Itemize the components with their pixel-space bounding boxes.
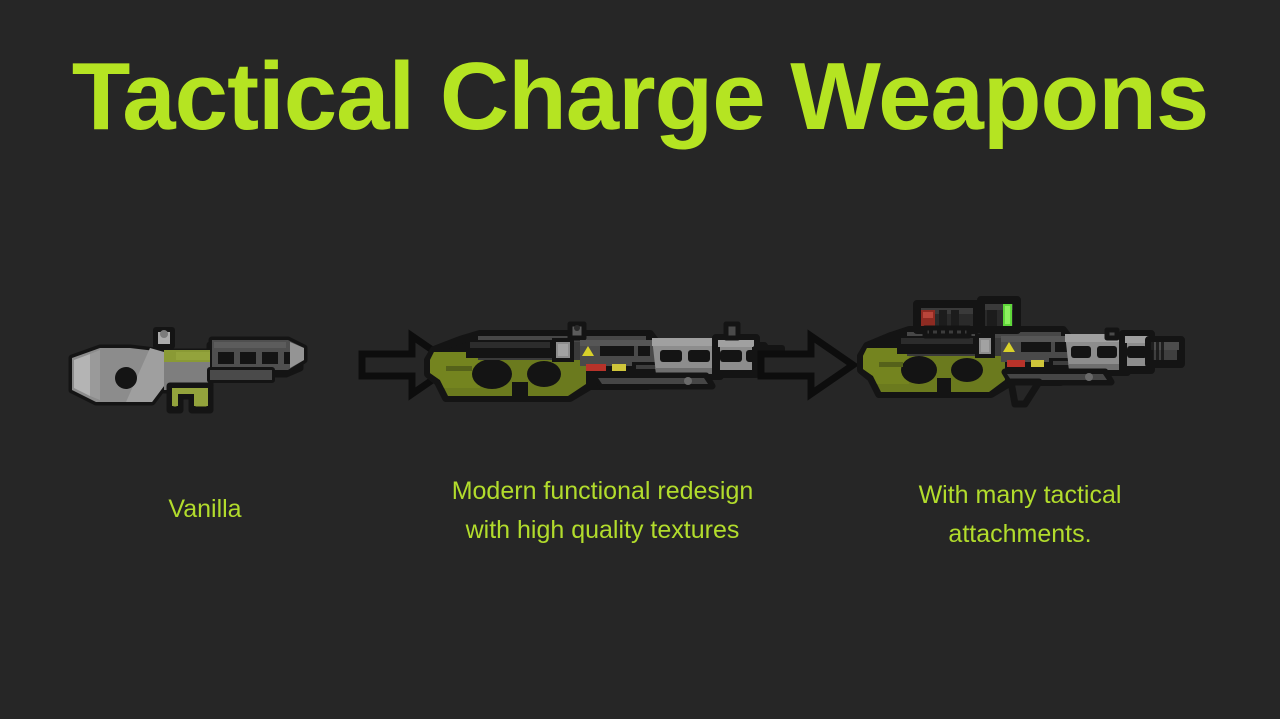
slide-canvas: Tactical Charge Weapons — [0, 0, 1280, 719]
redesign-art — [420, 290, 785, 420]
tactical-art — [855, 290, 1185, 420]
transition-arrow-2 — [757, 332, 857, 398]
caption-vanilla: Vanilla — [60, 490, 350, 529]
tactical-charge-rifle-sprite — [855, 290, 1185, 420]
redesigned-charge-rifle-sprite — [420, 290, 785, 420]
right-arrow-icon — [757, 332, 857, 398]
item-redesign: Modern functional redesign with high qua… — [420, 290, 785, 550]
page-title: Tactical Charge Weapons — [0, 42, 1280, 152]
comparison-row: Vanilla — [0, 290, 1280, 550]
item-vanilla: Vanilla — [60, 290, 350, 529]
caption-tactical: With many tactical attachments. — [855, 476, 1185, 554]
caption-redesign: Modern functional redesign with high qua… — [420, 472, 785, 550]
vanilla-charge-rifle-sprite — [60, 290, 350, 420]
item-tactical: With many tactical attachments. — [855, 290, 1185, 554]
vanilla-art — [60, 290, 350, 420]
